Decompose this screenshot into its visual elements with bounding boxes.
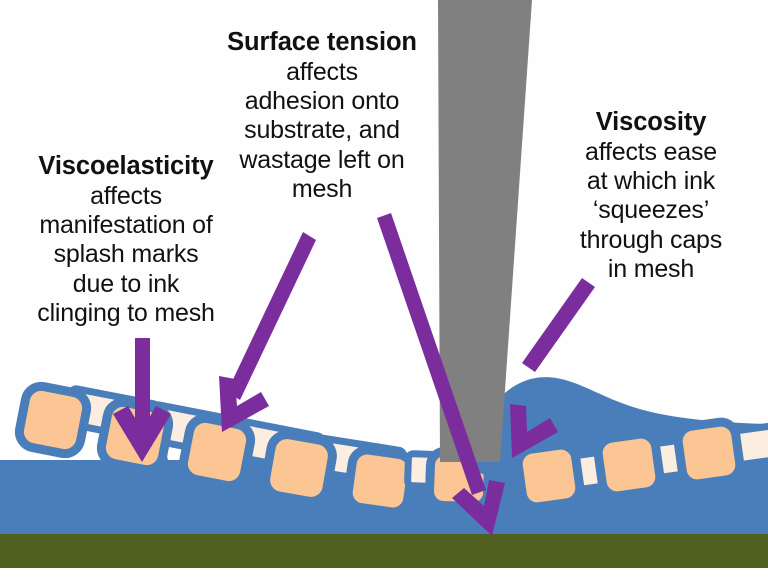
annotation-line: manifestation of — [8, 211, 244, 240]
mesh-cap — [596, 432, 662, 498]
annotation-line: substrate, and — [216, 116, 428, 145]
annotation-line: ‘squeezes’ — [552, 196, 750, 225]
annotation-line: wastage left on — [216, 146, 428, 175]
annotation-heading: Surface tension — [216, 28, 428, 58]
mesh-cap — [676, 420, 742, 486]
substrate-layer — [0, 534, 768, 568]
mesh-cap — [17, 384, 90, 457]
annotation-line: affects ease — [552, 138, 750, 167]
annotation-viscosity: Viscosity affects ease at which ink ‘squ… — [552, 108, 750, 284]
annotation-line: adhesion onto — [216, 87, 428, 116]
annotation-line: splash marks — [8, 240, 244, 269]
annotation-line: in mesh — [552, 255, 750, 284]
mesh-cap — [346, 448, 413, 514]
annotation-heading: Viscoelasticity — [8, 152, 244, 182]
diagram-canvas: Viscoelasticity affects manifestation of… — [0, 0, 768, 582]
annotation-surface-tension: Surface tension affects adhesion onto su… — [216, 28, 428, 204]
annotation-line: clinging to mesh — [8, 299, 244, 328]
annotation-line: affects — [216, 58, 428, 87]
annotation-line: due to ink — [8, 270, 244, 299]
annotation-viscoelasticity: Viscoelasticity affects manifestation of… — [8, 152, 244, 328]
mesh-cap — [181, 416, 254, 489]
annotation-line: at which ink — [552, 167, 750, 196]
mesh-cap — [263, 432, 335, 504]
annotation-line: mesh — [216, 175, 428, 204]
annotation-line: affects — [8, 182, 244, 211]
annotation-heading: Viscosity — [552, 108, 750, 138]
annotation-line: through caps — [552, 226, 750, 255]
mesh-cap — [516, 443, 582, 509]
